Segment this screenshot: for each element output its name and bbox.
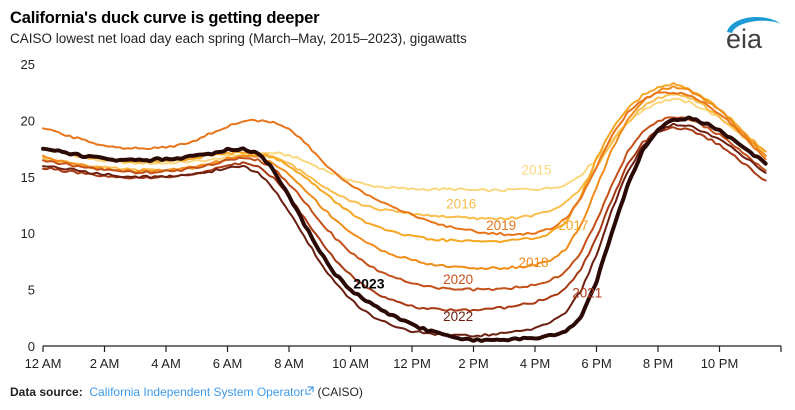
series-line-2020	[43, 117, 766, 290]
x-tick-label: 4 PM	[520, 356, 550, 371]
x-axis-line	[43, 346, 781, 352]
source-label: Data source:	[10, 385, 83, 399]
series-label-2023: 2023	[353, 275, 384, 291]
eia-logo-svg: eia	[721, 10, 787, 50]
duck-curve-line-chart: 0510152025 12 AM2 AM4 AM6 AM8 AM10 AM12 …	[0, 52, 795, 372]
y-tick-label: 5	[28, 283, 35, 298]
x-axis-tick-labels: 12 AM2 AM4 AM6 AM8 AM10 AM12 PM2 PM4 PM6…	[25, 356, 739, 371]
x-tick-label: 8 PM	[643, 356, 673, 371]
series-label-2015: 2015	[522, 163, 552, 178]
x-tick-label: 6 PM	[581, 356, 611, 371]
eia-logo-text: eia	[726, 24, 763, 50]
chart-page: California's duck curve is getting deepe…	[0, 0, 795, 410]
series-line-2016	[43, 94, 766, 219]
y-axis-tick-labels: 0510152025	[21, 57, 35, 354]
y-tick-label: 20	[21, 113, 35, 128]
x-tick-label: 8 AM	[274, 356, 304, 371]
y-tick-label: 25	[21, 57, 35, 72]
series-label-2020: 2020	[443, 272, 473, 287]
eia-logo: eia	[721, 10, 787, 50]
series-label-2019: 2019	[486, 218, 516, 233]
x-tick-label: 2 PM	[458, 356, 488, 371]
series-label-2017: 2017	[558, 218, 588, 233]
series-label-2022: 2022	[443, 309, 473, 324]
y-tick-label: 15	[21, 170, 35, 185]
series-label-2021: 2021	[572, 285, 602, 300]
page-title: California's duck curve is getting deepe…	[10, 8, 710, 28]
x-tick-label: 6 AM	[213, 356, 243, 371]
x-tick-label: 12 PM	[393, 356, 431, 371]
chart-plot-area: 0510152025 12 AM2 AM4 AM6 AM8 AM10 AM12 …	[0, 52, 795, 372]
series-lines	[43, 83, 766, 341]
y-tick-label: 10	[21, 226, 35, 241]
series-label-2016: 2016	[446, 196, 476, 211]
series-label-2018: 2018	[518, 255, 548, 270]
x-tick-label: 2 AM	[90, 356, 120, 371]
source-suffix: (CAISO)	[318, 385, 363, 399]
chart-header: California's duck curve is getting deepe…	[10, 8, 710, 48]
external-link-icon	[305, 383, 314, 399]
series-line-2021	[43, 127, 766, 311]
x-tick-label: 10 PM	[701, 356, 739, 371]
chart-subtitle: CAISO lowest net load day each spring (M…	[10, 30, 710, 48]
series-line-2023	[43, 118, 766, 341]
y-tick-label: 0	[28, 339, 35, 354]
x-tick-label: 10 AM	[332, 356, 369, 371]
x-tick-label: 12 AM	[25, 356, 62, 371]
source-link[interactable]: California Independent System Operator	[89, 385, 304, 399]
x-tick-label: 4 AM	[151, 356, 181, 371]
footer-source: Data source: California Independent Syst…	[10, 383, 363, 400]
